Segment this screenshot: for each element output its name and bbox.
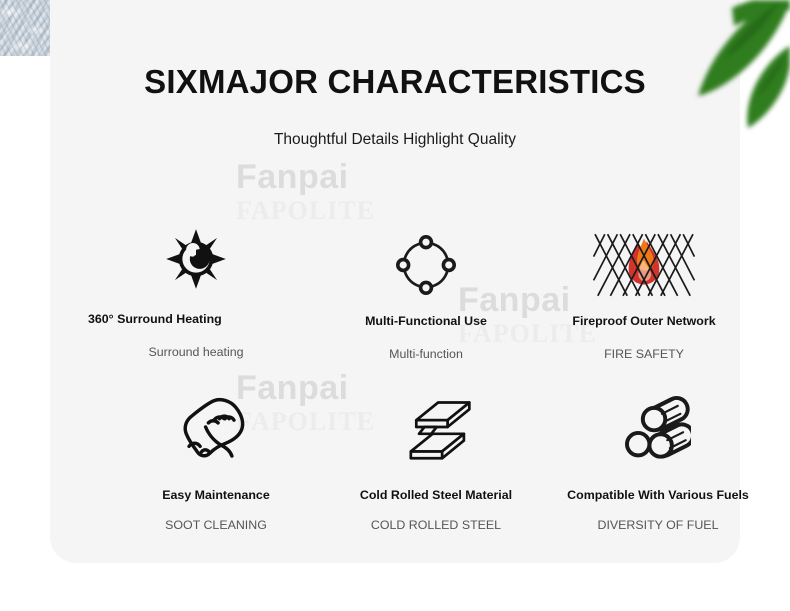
feature-item-multi-functional: Multi-Functional Use Multi-function (318, 222, 534, 362)
steel-beam-icon (328, 384, 544, 470)
circle-nodes-icon (318, 222, 534, 308)
flame-mesh-icon (536, 222, 752, 308)
feature-item-cold-rolled-steel: Cold Rolled Steel Material COLD ROLLED S… (328, 384, 544, 533)
feature-item-fireproof-network: Fireproof Outer Network FIRE SAFETY (536, 222, 752, 362)
stacked-logs-icon (550, 384, 766, 470)
feature-subtitle: SOOT CLEANING (108, 518, 324, 534)
feature-title: Multi-Functional Use (318, 314, 534, 330)
feature-item-surround-heating: 360° Surround Heating Surround heating (88, 216, 304, 360)
plant-leaves-decor (670, 0, 790, 170)
sun-spiral-icon (88, 216, 304, 302)
feature-subtitle: COLD ROLLED STEEL (328, 518, 544, 534)
feature-subtitle: DIVERSITY OF FUEL (550, 518, 766, 534)
feature-subtitle: Multi-function (318, 347, 534, 363)
feature-subtitle: FIRE SAFETY (536, 347, 752, 363)
feature-subtitle: Surround heating (88, 345, 304, 361)
feature-title: Compatible With Various Fuels (550, 488, 766, 504)
marble-texture-decor (0, 0, 52, 56)
feature-title: Fireproof Outer Network (536, 314, 752, 330)
hand-cloth-cleaning-icon (108, 384, 324, 470)
feature-title: 360° Surround Heating (88, 312, 304, 328)
feature-title: Easy Maintenance (108, 488, 324, 504)
promo-banner: Fanpai FAPOLITE Fanpai FAPOLITE Fanpai F… (0, 0, 790, 611)
feature-grid: 360° Surround Heating Surround heating (50, 0, 740, 563)
feature-title: Cold Rolled Steel Material (328, 488, 544, 504)
feature-item-various-fuels: Compatible With Various Fuels DIVERSITY … (550, 384, 766, 533)
feature-item-easy-maintenance: Easy Maintenance SOOT CLEANING (108, 384, 324, 533)
